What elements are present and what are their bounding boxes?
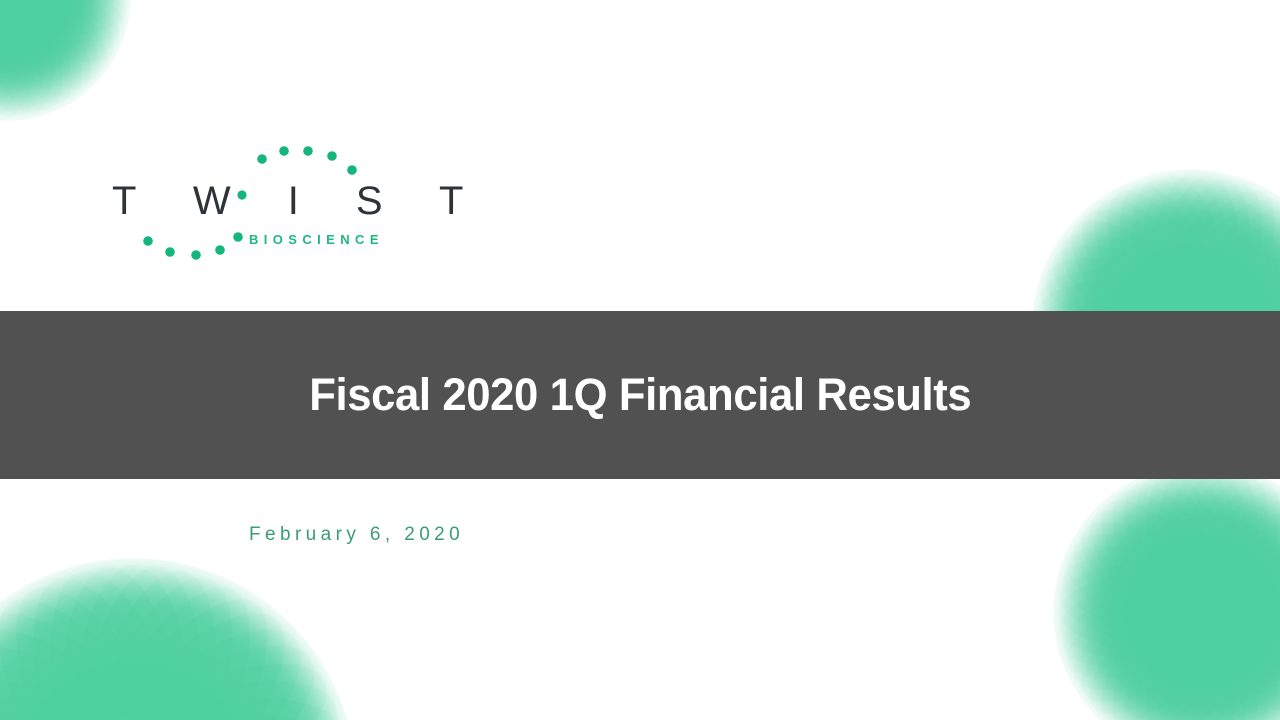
orb-fade-mask [0, 556, 358, 720]
page-title: Fiscal 2020 1Q Financial Results [309, 369, 971, 421]
orb-fade-mask [0, 0, 132, 122]
logo-subword: BIOSCIENCE [249, 232, 384, 247]
twist-bioscience-logo: T W I S T BIOSCIENCE [112, 138, 402, 266]
logo-wordmark: T W I S T [112, 178, 402, 224]
presentation-slide: T W I S T BIOSCIENCE Fiscal 2020 1Q Fina… [0, 0, 1280, 720]
decorative-orb-top-left [0, 0, 132, 122]
decorative-orb-right-lower [1052, 462, 1280, 720]
orb-fade-mask [1052, 462, 1280, 720]
title-band: Fiscal 2020 1Q Financial Results [0, 311, 1280, 479]
decorative-orb-bottom-left [0, 556, 358, 720]
slide-date: February 6, 2020 [249, 524, 464, 546]
